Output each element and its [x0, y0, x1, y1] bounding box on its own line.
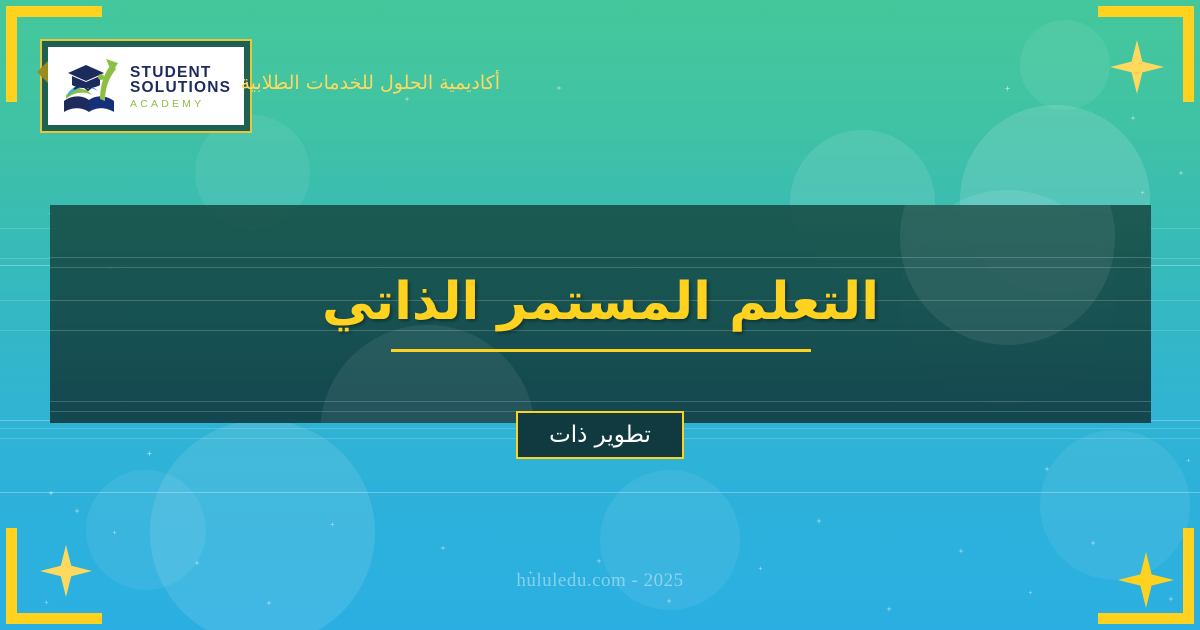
sparkle-icon — [1178, 170, 1184, 176]
sparkle-icon — [556, 85, 562, 91]
sparkle-icon — [1130, 115, 1136, 121]
sparkle-icon — [886, 606, 892, 612]
sparkle-icon — [958, 548, 964, 554]
footer-credit: hululedu.com - 2025 — [0, 570, 1200, 592]
logo-frame: STUDENT SOLUTIONS ACADEMY — [40, 39, 252, 133]
sparkle-icon — [1090, 540, 1096, 546]
sparkle-icon — [74, 508, 80, 514]
sparkle-icon — [112, 530, 117, 535]
logo-line-2: SOLUTIONS — [130, 80, 231, 96]
sparkle-icon — [48, 490, 54, 496]
page-title: التعلم المستمر الذاتي — [322, 270, 879, 335]
sparkle-icon — [1186, 458, 1191, 463]
decorative-bubble — [150, 420, 375, 630]
sparkle-icon — [1044, 466, 1050, 472]
sparkle-icon — [440, 545, 446, 551]
sparkle-icon — [1140, 190, 1145, 195]
sparkle-icon — [816, 518, 822, 524]
sparkle-icon — [330, 522, 335, 527]
corner-bracket-top-right — [1098, 6, 1194, 102]
decorative-bubble — [1040, 430, 1190, 580]
title-underline — [391, 349, 811, 352]
sparkle-icon — [1004, 85, 1011, 92]
subtitle-badge: تطوير ذات — [516, 411, 684, 459]
slide-canvas: STUDENT SOLUTIONS ACADEMY أكاديمية الحلو… — [0, 0, 1200, 630]
logo-wordmark: STUDENT SOLUTIONS ACADEMY — [130, 65, 231, 110]
sparkle-icon — [146, 450, 153, 457]
logo-line-1: STUDENT — [130, 65, 231, 81]
sparkle-icon — [404, 96, 410, 102]
sparkle-icon — [266, 600, 272, 606]
streak-line — [0, 492, 1200, 493]
logo-card: STUDENT SOLUTIONS ACADEMY — [48, 47, 244, 125]
title-block: التعلم المستمر الذاتي — [50, 205, 1151, 423]
decorative-bubble — [1020, 20, 1110, 110]
sparkle-icon — [1168, 596, 1174, 602]
sparkle-icon — [666, 598, 672, 604]
logo-line-3: ACADEMY — [130, 99, 231, 110]
graduation-cap-arrow-book-icon — [56, 55, 124, 117]
sparkle-icon — [44, 600, 49, 605]
title-banner: التعلم المستمر الذاتي — [50, 205, 1151, 423]
star-icon-top-right — [1110, 40, 1164, 94]
sparkle-icon — [596, 558, 602, 564]
subtitle-badge-label: تطوير ذات — [549, 422, 651, 448]
brand-tagline: أكاديمية الحلول للخدمات الطلابية — [241, 72, 501, 94]
sparkle-icon — [194, 560, 200, 566]
